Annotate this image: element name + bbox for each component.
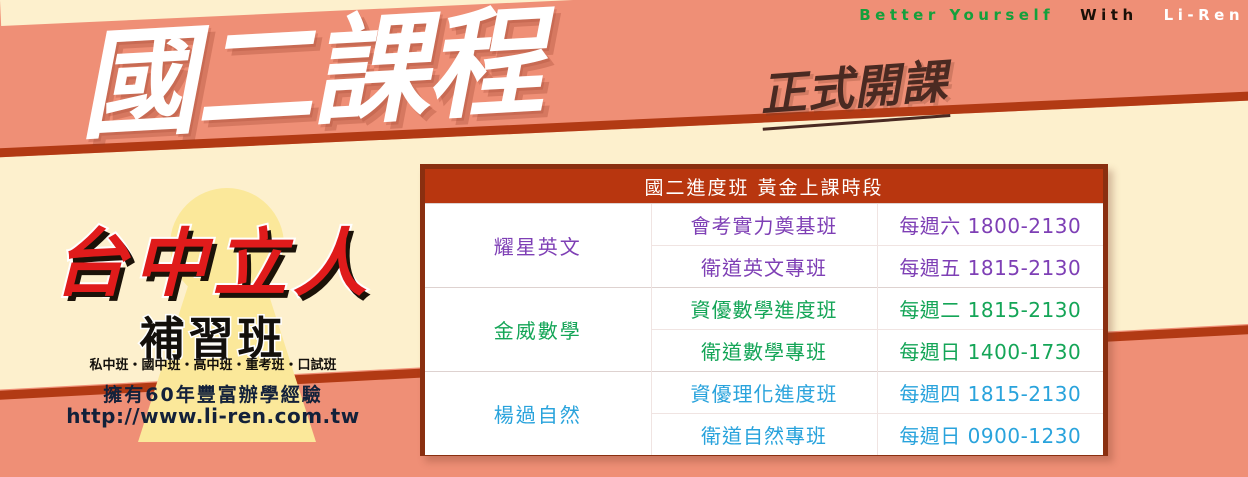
headline-main-title: 國二課程 — [75, 1, 545, 147]
cell-course-name: 衛道英文專班 — [651, 246, 877, 288]
table-row: 金威數學資優數學進度班每週二 1815-2130 — [425, 288, 1103, 330]
logo-experience-text: 擁有60年豐富辦學經驗 — [18, 380, 408, 407]
cell-class-time: 每週二 1815-2130 — [877, 288, 1103, 330]
cell-course-name: 會考實力奠基班 — [651, 204, 877, 246]
logo-website-url[interactable]: http://www.li-ren.com.tw — [18, 404, 408, 428]
table-row: 耀星英文會考實力奠基班每週六 1800-2130 — [425, 204, 1103, 246]
schedule-header-row: 國二進度班 黃金上課時段 — [425, 169, 1103, 204]
tagline: Better Yourself With Li-Ren — [648, 2, 1244, 28]
table-row: 楊過自然資優理化進度班每週四 1815-2130 — [425, 372, 1103, 414]
headline-container: 國二課程 — [75, 1, 545, 147]
cell-class-time: 每週六 1800-2130 — [877, 204, 1103, 246]
cell-class-time: 每週五 1815-2130 — [877, 246, 1103, 288]
logo-block: 台中立人 補習班 私中班・國中班・高中班・重考班・口試班 擁有60年豐富辦學經驗… — [18, 182, 408, 432]
cell-course-name: 衛道自然專班 — [651, 414, 877, 456]
schedule-table-head: 國二進度班 黃金上課時段 — [425, 169, 1103, 204]
cell-teacher: 金威數學 — [425, 288, 651, 372]
cell-course-name: 資優理化進度班 — [651, 372, 877, 414]
tagline-part-with: With — [1080, 6, 1138, 24]
headline-subtitle: 正式開課 — [758, 45, 951, 131]
cell-class-time: 每週日 0900-1230 — [877, 414, 1103, 456]
promo-banner: Better Yourself With Li-Ren 國二課程 正式開課 台中… — [0, 0, 1248, 477]
schedule-header-title: 國二進度班 黃金上課時段 — [425, 169, 1103, 204]
cell-course-name: 資優數學進度班 — [651, 288, 877, 330]
schedule-table: 國二進度班 黃金上課時段 耀星英文會考實力奠基班每週六 1800-2130衛道英… — [425, 169, 1103, 455]
cell-teacher: 楊過自然 — [425, 372, 651, 456]
schedule-table-container: 國二進度班 黃金上課時段 耀星英文會考實力奠基班每週六 1800-2130衛道英… — [420, 164, 1108, 456]
tagline-part-better-yourself: Better Yourself — [859, 6, 1054, 24]
cell-class-time: 每週四 1815-2130 — [877, 372, 1103, 414]
tagline-part-li-ren: Li-Ren — [1164, 6, 1244, 24]
cell-course-name: 衛道數學專班 — [651, 330, 877, 372]
cell-class-time: 每週日 1400-1730 — [877, 330, 1103, 372]
logo-name-primary: 台中立人 — [18, 204, 408, 311]
schedule-table-body: 耀星英文會考實力奠基班每週六 1800-2130衛道英文專班每週五 1815-2… — [425, 204, 1103, 456]
logo-class-tags: 私中班・國中班・高中班・重考班・口試班 — [18, 354, 408, 373]
cell-teacher: 耀星英文 — [425, 204, 651, 288]
